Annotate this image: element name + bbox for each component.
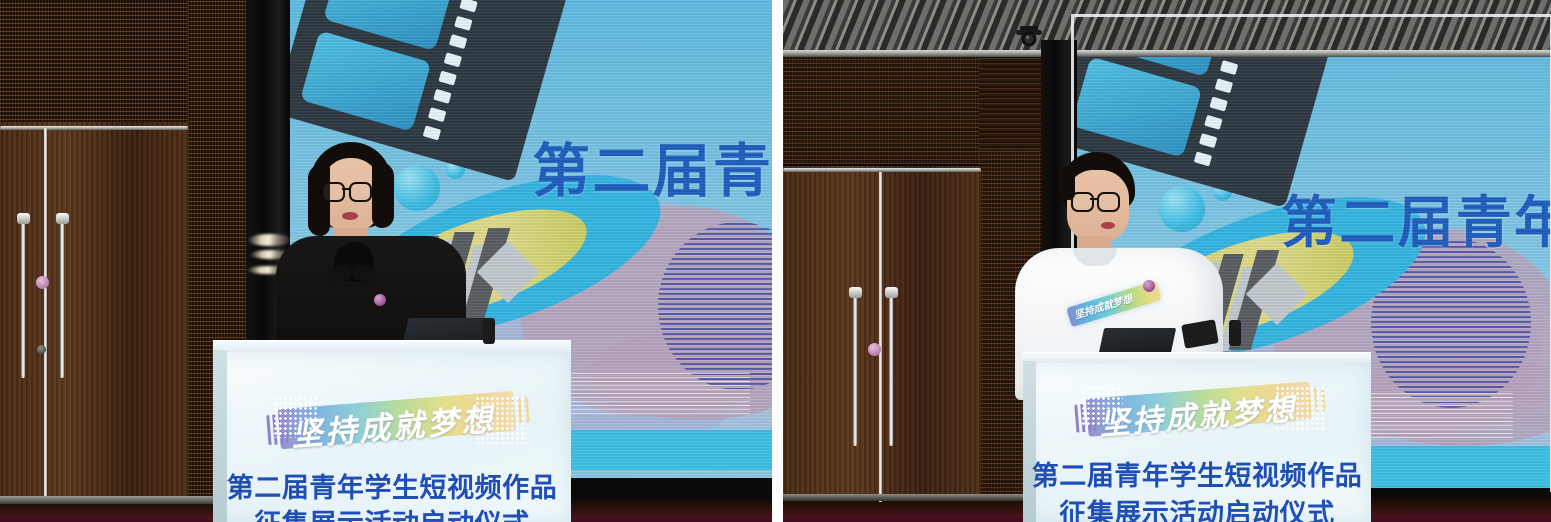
- podium-line-2: 征集展示活动启动仪式: [213, 502, 571, 522]
- vertical-chrome-door-handle[interactable]: [889, 296, 893, 446]
- podium-line-1: 第二届青年学生短视频作品: [1023, 454, 1371, 493]
- podium-right: 坚持成就梦想 第二届青年学生短视频作品 征集展示活动启动仪式: [1023, 352, 1371, 522]
- wall-texture: [0, 0, 188, 124]
- eyeglasses: [322, 182, 388, 200]
- photo-gutter: [772, 0, 783, 522]
- wood-door-right[interactable]: [783, 166, 981, 502]
- vertical-chrome-door-handle[interactable]: [60, 222, 64, 378]
- photo-pair-stage: 第二届青: [0, 0, 1551, 522]
- podium-line-2: 征集展示活动启动仪式: [1023, 492, 1371, 522]
- podium-line-1: 第二届青年学生短视频作品: [213, 466, 571, 505]
- wood-door-left[interactable]: [0, 122, 188, 502]
- door-sticker: [36, 276, 49, 289]
- podium-microphone: [483, 318, 495, 344]
- door-lock[interactable]: [37, 345, 46, 354]
- eyeglasses: [1071, 192, 1135, 210]
- female-speaker-photo: 第二届青: [0, 0, 772, 522]
- ceiling-slats: [783, 0, 1551, 56]
- vertical-chrome-door-handle[interactable]: [21, 222, 25, 378]
- door-rail: [0, 126, 188, 130]
- security-camera-icon: [1015, 26, 1043, 48]
- podium-left: 坚持成就梦想 第二届青年学生短视频作品 征集展示活动启动仪式: [213, 340, 571, 522]
- purple-badge: [374, 294, 386, 306]
- vertical-chrome-door-handle[interactable]: [853, 296, 857, 446]
- door-seam: [879, 172, 882, 502]
- podium-microphone: [1229, 320, 1241, 346]
- male-speaker-photo: 第二届青年: [783, 0, 1551, 522]
- door-sticker: [868, 343, 881, 356]
- purple-badge: [1143, 280, 1155, 292]
- screen-headline-left: 第二届青: [532, 124, 772, 208]
- screen-headline-right: 第二届青年: [1281, 178, 1551, 259]
- door-rail: [783, 168, 981, 172]
- door-seam: [44, 128, 47, 502]
